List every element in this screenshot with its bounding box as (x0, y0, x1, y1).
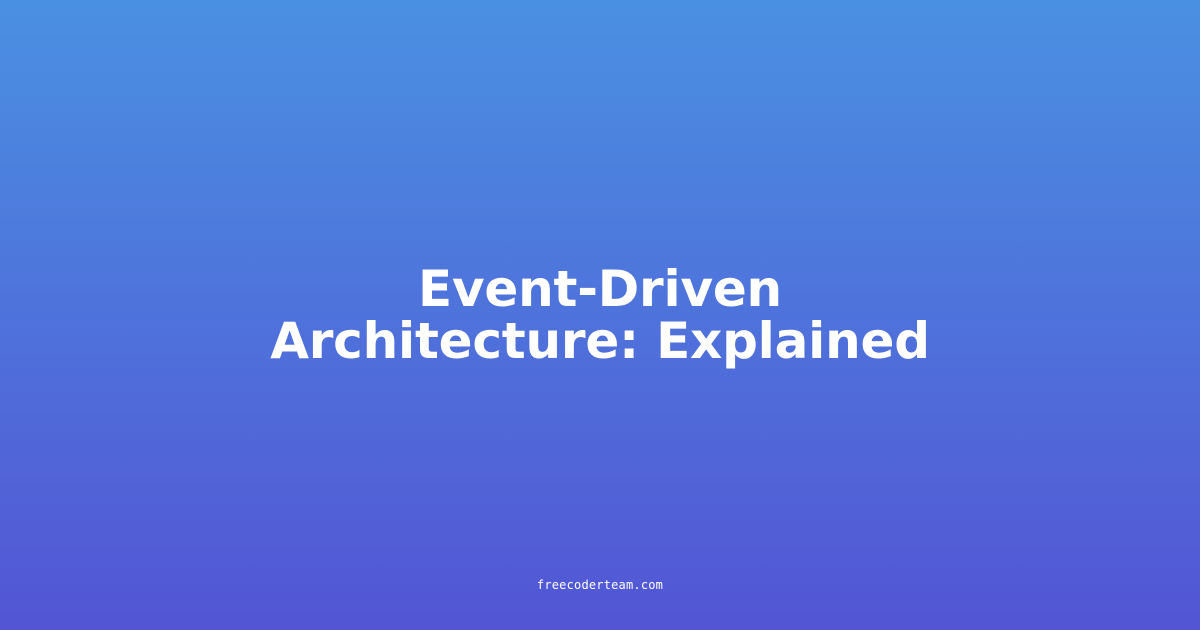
headline-block: Event-Driven Architecture: Explained (0, 263, 1200, 367)
site-domain-watermark: freecoderteam.com (537, 578, 663, 592)
page-title: Event-Driven Architecture: Explained (270, 263, 930, 367)
og-card: Event-Driven Architecture: Explained fre… (0, 0, 1200, 630)
footer: freecoderteam.com (0, 578, 1200, 592)
